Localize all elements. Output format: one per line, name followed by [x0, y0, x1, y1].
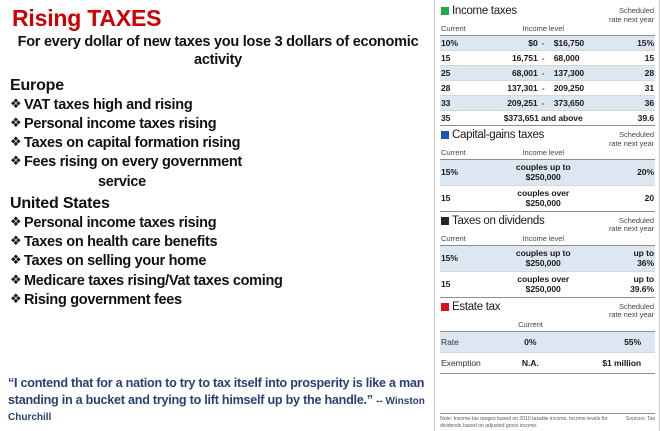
range-dash: - — [538, 83, 549, 93]
cell-income-level: couples up to $250,000 — [496, 160, 591, 185]
scheduled-rate-column-header: Scheduled rate next year — [609, 129, 654, 148]
table-row: 15 couples over $250,000 20 — [440, 185, 655, 211]
cell-current: 25 — [440, 66, 496, 81]
range-high: 68,000 — [549, 53, 590, 63]
diamond-bullet-icon: ❖ — [10, 290, 21, 307]
range-row: $0 - $16,750 — [497, 38, 590, 48]
cell-current: 15% — [440, 160, 496, 185]
section-estate-tax: Estate tax Scheduled rate next year Curr… — [440, 299, 655, 374]
income-level-line-1: couples up to — [497, 248, 590, 258]
cell-current: 35 — [440, 111, 496, 126]
list-item: ❖Taxes on health care benefits — [8, 233, 428, 252]
rate-line-2: 36% — [591, 258, 654, 268]
list-item: ❖VAT taxes high and rising — [8, 96, 428, 115]
range-single: $373,651 and above — [497, 113, 590, 123]
churchill-quote: “I contend that for a nation to try to t… — [8, 375, 428, 425]
cell-income-level: 16,751 - 68,000 — [496, 51, 591, 66]
tax-rates-infographic: Income taxes Scheduled rate next year Cu… — [434, 0, 660, 431]
cell-scheduled-rate: 39.6 — [590, 111, 655, 126]
left-content-panel: Rising TAXES For every dollar of new tax… — [0, 0, 434, 431]
column-headers: Current Income level — [440, 234, 655, 246]
cell-row-label: Exemption — [440, 352, 496, 373]
cell-scheduled-rate: 55% — [565, 332, 655, 353]
column-header-current: Current — [496, 320, 564, 329]
range-row: 137,301 - 209,250 — [497, 83, 590, 93]
range-low: 137,301 — [497, 83, 538, 93]
range-row: 68,001 - 137,300 — [497, 68, 590, 78]
range-high: 137,300 — [549, 68, 590, 78]
section-heading-united-states: United States — [10, 194, 428, 214]
scheduled-line-2: rate next year — [609, 16, 654, 25]
list-item-label: Personal income taxes rising — [24, 215, 216, 231]
cell-current: 0% — [496, 332, 565, 353]
column-header-income-level: Income level — [496, 148, 590, 157]
range-dash: - — [538, 53, 549, 63]
range-low: $0 — [497, 38, 538, 48]
column-header-income-level: Income level — [496, 24, 590, 33]
section-heading-europe: Europe — [10, 76, 428, 96]
section-header: Taxes on dividends Scheduled rate next y… — [440, 213, 655, 234]
cell-scheduled-rate: 31 — [590, 81, 655, 96]
income-level-line-2: $250,000 — [497, 284, 590, 294]
table-row: 35 $373,651 and above 39.6 — [440, 111, 655, 126]
table-row: 15 16,751 - 68,000 15 — [440, 51, 655, 66]
income-level-line-1: couples over — [497, 274, 590, 284]
cell-income-level: 68,001 - 137,300 — [496, 66, 591, 81]
income-level-line-1: couples over — [497, 188, 590, 198]
section-title-wrap: Capital-gains taxes — [441, 129, 544, 141]
income-level-line-1: couples up to — [497, 162, 590, 172]
section-title: Estate tax — [452, 301, 500, 313]
list-item-label: VAT taxes high and rising — [24, 97, 192, 113]
table-row: 15% couples up to $250,000 up to 36% — [440, 246, 655, 271]
footnote-note: Note: Income-tax ranges based on 2010 ta… — [440, 416, 620, 429]
section-title-wrap: Taxes on dividends — [441, 215, 544, 227]
range-dash: - — [538, 68, 549, 78]
list-item: ❖Taxes on capital formation rising — [8, 134, 428, 153]
diamond-bullet-icon: ❖ — [10, 114, 21, 131]
cell-scheduled-rate: 36 — [590, 96, 655, 111]
capital-gains-table: 15% couples up to $250,000 20% 15 couple… — [440, 160, 655, 212]
cell-income-level: couples over $250,000 — [496, 271, 591, 297]
table-row: 33 209,251 - 373,650 36 — [440, 96, 655, 111]
blue-square-icon — [441, 131, 449, 139]
slide-root: Rising TAXES For every dollar of new tax… — [0, 0, 660, 431]
list-item: ❖Fees rising on every government — [8, 153, 428, 172]
column-header-current: Current — [441, 24, 496, 33]
black-square-icon — [441, 217, 449, 225]
income-level-line-2: $250,000 — [497, 198, 590, 208]
cell-current: 15 — [440, 51, 496, 66]
range-low: 68,001 — [497, 68, 538, 78]
section-title: Income taxes — [452, 5, 517, 17]
diamond-bullet-icon: ❖ — [10, 133, 21, 150]
footnote-source: Sources: Tax — [626, 416, 655, 429]
list-item-label: Taxes on selling your home — [24, 253, 206, 269]
scheduled-line-2: rate next year — [609, 225, 654, 234]
cell-scheduled-rate: up to 36% — [590, 246, 655, 271]
list-item-label: Personal income taxes rising — [24, 116, 216, 132]
diamond-bullet-icon: ❖ — [10, 271, 21, 288]
cell-row-label: Rate — [440, 332, 496, 353]
cell-current: 15% — [440, 246, 496, 271]
diamond-bullet-icon: ❖ — [10, 251, 21, 268]
scheduled-rate-column-header: Scheduled rate next year — [609, 301, 654, 320]
cell-scheduled-rate: up to 39.6% — [590, 271, 655, 297]
cell-scheduled-rate: 20% — [590, 160, 655, 185]
red-square-icon — [441, 303, 449, 311]
rate-line-1: up to — [591, 274, 654, 284]
quote-text: “I contend that for a nation to try to t… — [8, 376, 424, 407]
section-income-taxes: Income taxes Scheduled rate next year Cu… — [440, 3, 655, 126]
table-row: 25 68,001 - 137,300 28 — [440, 66, 655, 81]
table-row: Rate 0% 55% — [440, 332, 655, 353]
cell-income-level: couples up to $250,000 — [496, 246, 591, 271]
diamond-bullet-icon: ❖ — [10, 95, 21, 112]
column-header-spacer — [590, 234, 654, 243]
section-title: Capital-gains taxes — [452, 129, 544, 141]
scheduled-line-2: rate next year — [609, 311, 654, 320]
list-item: ❖Taxes on selling your home — [8, 252, 428, 271]
cell-income-level: 137,301 - 209,250 — [496, 81, 591, 96]
column-headers: Current Income level — [440, 24, 655, 36]
page-subtitle: For every dollar of new taxes you lose 3… — [14, 34, 422, 69]
scheduled-rate-column-header: Scheduled rate next year — [609, 5, 654, 24]
scheduled-rate-column-header: Scheduled rate next year — [609, 215, 654, 234]
list-item-label: Rising government fees — [24, 292, 182, 308]
income-level-line-2: $250,000 — [497, 258, 590, 268]
rate-line-1: up to — [591, 248, 654, 258]
table-row: Exemption N.A. $1 million — [440, 352, 655, 373]
column-header-income-level: Income level — [496, 234, 590, 243]
income-taxes-table: 10% $0 - $16,750 15% 15 16,751 — [440, 36, 655, 126]
estate-tax-table: Rate 0% 55% Exemption N.A. $1 million — [440, 332, 655, 374]
range-dash: - — [538, 98, 549, 108]
column-header-current: Current — [441, 234, 496, 243]
cell-current: N.A. — [496, 352, 565, 373]
range-high: $16,750 — [549, 38, 590, 48]
section-header: Capital-gains taxes Scheduled rate next … — [440, 127, 655, 148]
diamond-bullet-icon: ❖ — [10, 213, 21, 230]
section-taxes-on-dividends: Taxes on dividends Scheduled rate next y… — [440, 213, 655, 298]
chart-footnote: Note: Income-tax ranges based on 2010 ta… — [440, 413, 655, 429]
column-header-current: Current — [441, 148, 496, 157]
list-item-label: Medicare taxes rising/Vat taxes coming — [24, 273, 283, 289]
dividends-table: 15% couples up to $250,000 up to 36% 15 … — [440, 246, 655, 298]
column-headers: Current — [440, 320, 655, 332]
range-high: 209,250 — [549, 83, 590, 93]
cell-income-level: $0 - $16,750 — [496, 36, 591, 51]
cell-scheduled-rate: 15% — [590, 36, 655, 51]
cell-current: 10% — [440, 36, 496, 51]
list-item-label: Fees rising on every government — [24, 154, 242, 170]
table-row: 28 137,301 - 209,250 31 — [440, 81, 655, 96]
range-dash: - — [538, 38, 549, 48]
section-title-wrap: Income taxes — [441, 5, 517, 17]
table-row: 15% couples up to $250,000 20% — [440, 160, 655, 185]
range-low: 16,751 — [497, 53, 538, 63]
list-item: ❖Personal income taxes rising — [8, 115, 428, 134]
list-item-label: Taxes on capital formation rising — [24, 135, 240, 151]
list-item: ❖Medicare taxes rising/Vat taxes coming — [8, 272, 428, 291]
cell-scheduled-rate: 20 — [590, 185, 655, 211]
column-header-blank — [441, 320, 496, 329]
list-item: ❖Rising government fees — [8, 291, 428, 310]
cell-current: 28 — [440, 81, 496, 96]
bullet-list-united-states: ❖Personal income taxes rising ❖Taxes on … — [8, 214, 428, 310]
range-row: 209,251 - 373,650 — [497, 98, 590, 108]
range-row: 16,751 - 68,000 — [497, 53, 590, 63]
list-item-continuation: service — [8, 173, 428, 192]
cell-current: 33 — [440, 96, 496, 111]
list-item-label: Taxes on health care benefits — [24, 234, 217, 250]
cell-current: 15 — [440, 271, 496, 297]
cell-scheduled-rate: $1 million — [565, 352, 655, 373]
cell-current: 15 — [440, 185, 496, 211]
section-capital-gains-taxes: Capital-gains taxes Scheduled rate next … — [440, 127, 655, 212]
column-header-spacer — [590, 148, 654, 157]
diamond-bullet-icon: ❖ — [10, 152, 21, 169]
cell-scheduled-rate: 28 — [590, 66, 655, 81]
cell-scheduled-rate: 15 — [590, 51, 655, 66]
rate-line-2: 39.6% — [591, 284, 654, 294]
cell-income-level: $373,651 and above — [496, 111, 591, 126]
list-item: ❖Personal income taxes rising — [8, 214, 428, 233]
cell-income-level: 209,251 - 373,650 — [496, 96, 591, 111]
cell-income-level: couples over $250,000 — [496, 185, 591, 211]
scheduled-line-2: rate next year — [609, 140, 654, 149]
income-level-line-2: $250,000 — [497, 172, 590, 182]
column-header-spacer — [565, 320, 654, 329]
section-title: Taxes on dividends — [452, 215, 544, 227]
green-square-icon — [441, 7, 449, 15]
table-row: 15 couples over $250,000 up to 39.6% — [440, 271, 655, 297]
diamond-bullet-icon: ❖ — [10, 232, 21, 249]
page-title: Rising TAXES — [12, 6, 428, 30]
table-row: 10% $0 - $16,750 15% — [440, 36, 655, 51]
range-high: 373,650 — [549, 98, 590, 108]
bullet-list-europe: ❖VAT taxes high and rising ❖Personal inc… — [8, 96, 428, 173]
column-header-spacer — [590, 24, 654, 33]
section-title-wrap: Estate tax — [441, 301, 500, 313]
column-headers: Current Income level — [440, 148, 655, 160]
range-low: 209,251 — [497, 98, 538, 108]
section-header: Income taxes Scheduled rate next year — [440, 3, 655, 24]
section-header: Estate tax Scheduled rate next year — [440, 299, 655, 320]
